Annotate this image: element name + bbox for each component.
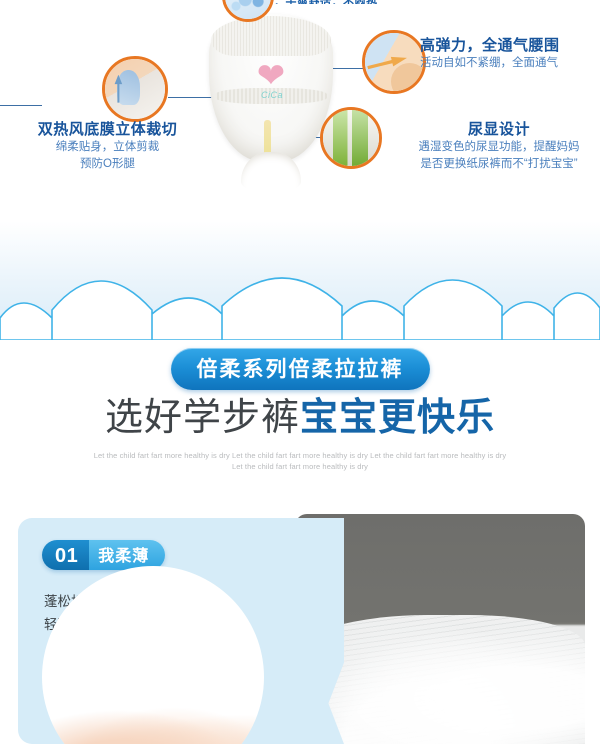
training-pants-illustration: ❤ CiCa <box>203 14 339 186</box>
headline-bold-part: 宝宝更快乐 <box>300 397 495 439</box>
connector-line-bottomleft <box>0 105 42 106</box>
callout-line-2: 预防O形腿 <box>0 156 215 173</box>
headline-section: 倍柔系列倍柔拉拉裤 选好学步裤宝宝更快乐 Let the child fart … <box>0 340 600 500</box>
waist-stretch-icon <box>362 30 426 94</box>
green-stripe-icon <box>320 107 382 169</box>
main-headline: 选好学步裤宝宝更快乐 <box>0 394 600 442</box>
wave-arches-svg <box>0 270 600 340</box>
scalloped-wave-divider <box>0 205 600 340</box>
series-pill-badge: 倍柔系列倍柔拉拉裤 <box>171 348 430 390</box>
english-subtitle-line-1: Let the child fart fart more healthy is … <box>0 450 600 461</box>
card-info-panel: 01 我柔薄 蓬松棉轻薄透气，呵护宝宝 轻薄无感透气性更好。 <box>18 518 318 744</box>
headline-thin-part: 选好学步裤 <box>105 397 300 439</box>
callout-lower-right: 尿显设计 遇湿变色的尿显功能，提醒妈妈 是否更换纸尿裤而不“打扰宝宝” <box>398 118 600 173</box>
feature-card-01: 01 我柔薄 蓬松棉轻薄透气，呵护宝宝 轻薄无感透气性更好。 <box>0 500 600 744</box>
callout-right: 高弹力，全通气腰围 活动自如不紧绷，全面通气 <box>420 34 600 72</box>
english-subtitle-line-2: Let the child fart fart more healthy is … <box>0 461 600 472</box>
callout-bottom-left: 双热风底膜立体裁切 绵柔贴身，立体剪裁 预防O形腿 <box>0 118 215 173</box>
brand-mark: CiCa <box>247 90 297 100</box>
callout-line-1: 遇湿变色的尿显功能，提醒妈妈 <box>398 139 600 156</box>
pants-waistband <box>211 16 331 56</box>
bubbles-icon <box>222 0 274 22</box>
callout-title: 双热风底膜立体裁切 <box>0 118 215 139</box>
callout-title: 尿显设计 <box>398 118 600 139</box>
callout-line-1: 绵柔贴身，立体剪裁 <box>0 139 215 156</box>
callout-line-2: 是否更换纸尿裤而不“打扰宝宝” <box>398 156 600 173</box>
airflow-icon <box>102 56 168 122</box>
wetness-strip <box>264 120 271 156</box>
baby-photo <box>52 702 262 744</box>
callout-title: 高弹力，全通气腰围 <box>420 34 600 55</box>
badge-number: 01 <box>42 540 89 570</box>
product-features-section: 超薄透气，干爽舒适，不闷热 ❤ CiCa 双热风底膜立体裁切 绵柔贴身，立体剪裁… <box>0 0 600 205</box>
callout-line-1: 活动自如不紧绷，全面通气 <box>420 55 600 72</box>
